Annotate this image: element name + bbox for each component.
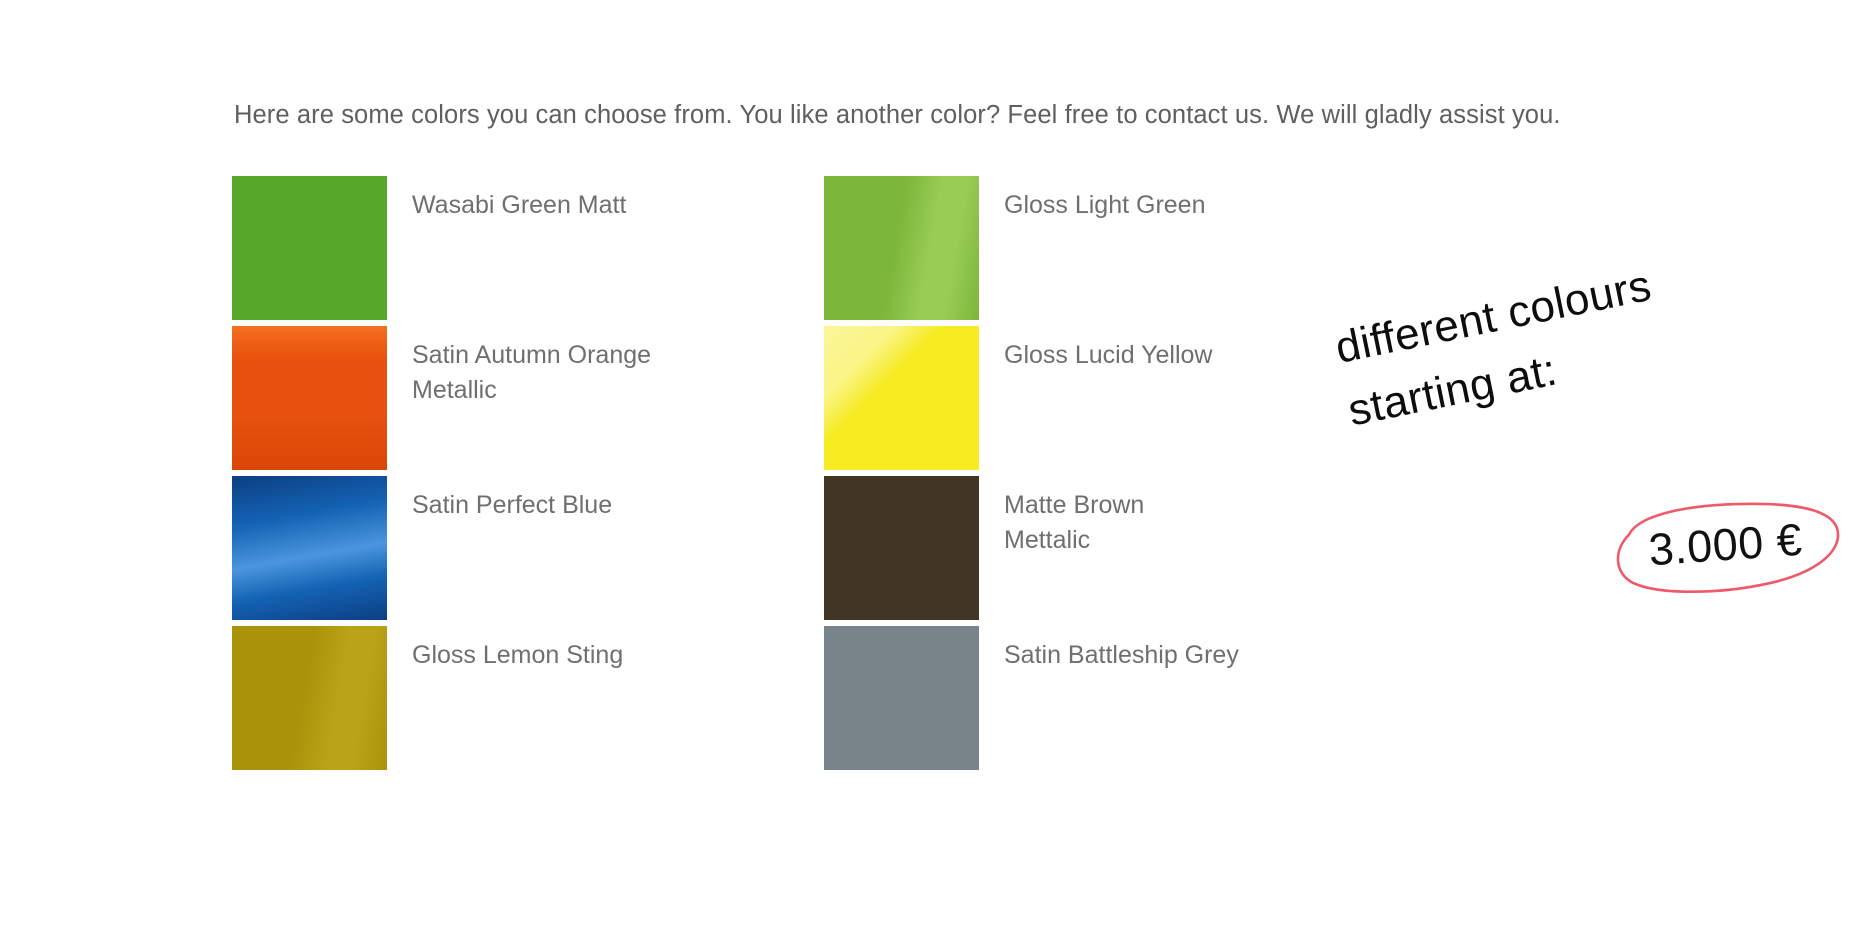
color-swatch[interactable] — [232, 326, 387, 470]
color-swatch-label: Satin Perfect Blue — [412, 488, 732, 523]
color-swatch[interactable] — [824, 626, 979, 770]
color-swatch[interactable] — [232, 626, 387, 770]
color-swatch[interactable] — [824, 476, 979, 620]
price-callout: 3.000 € — [1605, 492, 1846, 600]
color-swatch-label-line2: Mettalic — [1004, 526, 1090, 554]
swatch-row: Gloss Lemon Sting Satin Battleship Grey — [232, 626, 1332, 776]
color-swatch-label-line1: Satin Autumn Orange — [412, 341, 651, 369]
swatch-row: Satin Perfect Blue Matte Brown Mettalic — [232, 476, 1332, 626]
price-value: 3.000 € — [1606, 510, 1844, 580]
color-option[interactable]: Satin Battleship Grey — [824, 626, 1324, 776]
intro-paragraph: Here are some colors you can choose from… — [234, 99, 1594, 131]
color-swatch-label: Satin Battleship Grey — [1004, 638, 1324, 673]
color-option[interactable]: Wasabi Green Matt — [232, 176, 822, 326]
slide-canvas: Here are some colors you can choose from… — [0, 0, 1874, 930]
color-swatch-label: Gloss Light Green — [1004, 188, 1324, 223]
color-swatch-label-line2: Metallic — [412, 376, 497, 404]
color-swatch-label: Gloss Lucid Yellow — [1004, 338, 1324, 373]
color-option[interactable]: Gloss Lucid Yellow — [824, 326, 1324, 476]
color-swatch-grid: Wasabi Green Matt Gloss Light Green Sati… — [232, 176, 1332, 776]
color-option[interactable]: Gloss Light Green — [824, 176, 1324, 326]
color-option[interactable]: Satin Autumn Orange Metallic — [232, 326, 822, 476]
color-option[interactable]: Satin Perfect Blue — [232, 476, 822, 626]
color-swatch[interactable] — [232, 476, 387, 620]
swatch-row: Satin Autumn Orange Metallic Gloss Lucid… — [232, 326, 1332, 476]
color-swatch-label-line1: Matte Brown — [1004, 491, 1144, 519]
color-swatch[interactable] — [824, 176, 979, 320]
color-swatch[interactable] — [824, 326, 979, 470]
color-swatch-label: Matte Brown Mettalic — [1004, 488, 1324, 558]
price-annotation-text: different colours starting at: — [1330, 232, 1777, 443]
color-swatch[interactable] — [232, 176, 387, 320]
color-option[interactable]: Gloss Lemon Sting — [232, 626, 822, 776]
color-option[interactable]: Matte Brown Mettalic — [824, 476, 1324, 626]
color-swatch-label: Wasabi Green Matt — [412, 188, 732, 223]
color-swatch-label: Satin Autumn Orange Metallic — [412, 338, 732, 408]
color-swatch-label: Gloss Lemon Sting — [412, 638, 732, 673]
swatch-row: Wasabi Green Matt Gloss Light Green — [232, 176, 1332, 326]
